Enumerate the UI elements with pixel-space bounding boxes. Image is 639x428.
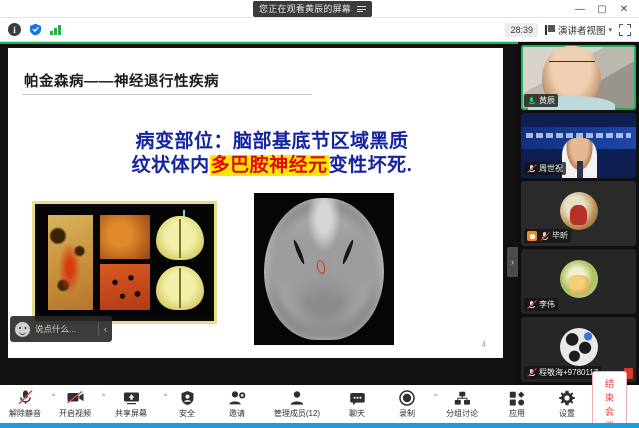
participant-name-badge: 周世祝 — [524, 162, 566, 175]
chevron-left-icon[interactable]: ‹ — [104, 324, 107, 334]
apps-icon — [509, 390, 525, 406]
maximize-button[interactable]: ▢ — [591, 0, 613, 18]
window-titlebar: 您正在观看黄辰的屏幕 — ▢ ✕ — [0, 0, 639, 18]
participant-strip[interactable]: 黄辰 周世祝 毕昕 李伟 — [518, 42, 639, 385]
brain-mri-image — [254, 193, 394, 345]
annotation-chat-widget[interactable]: 说点什么... ‹ — [10, 316, 112, 342]
chat-bubble-icon — [349, 390, 366, 406]
view-mode-label: 演讲者视图 — [558, 23, 606, 37]
fullscreen-icon[interactable] — [619, 24, 631, 36]
microphone-muted-icon — [540, 232, 549, 241]
start-video-label: 开启视频 — [59, 408, 91, 419]
start-video-button[interactable]: 开启视频 ^ — [50, 385, 100, 423]
speaker-view-icon — [545, 25, 555, 35]
apps-label: 应用 — [509, 408, 525, 419]
slide-page-number: 4 — [482, 340, 486, 349]
histology-panel-2 — [100, 215, 150, 259]
glasses-decor — [549, 61, 595, 66]
presentation-slide: 帕金森病——神经退行性疾病 病变部位：脑部基底节区域黑质 纹状体内多巴胺神经元变… — [8, 48, 503, 358]
subtoolbar-left-icons: i — [8, 23, 61, 36]
slide-title: 帕金森病——神经退行性疾病 — [24, 70, 219, 91]
invite-label: 邀请 — [229, 408, 245, 419]
info-icon[interactable]: i — [8, 23, 21, 36]
participant-name: 周世祝 — [539, 165, 563, 173]
brain-specimen-2 — [156, 266, 204, 310]
participants-icon — [289, 390, 305, 406]
apps-button[interactable]: 应用 — [492, 385, 542, 423]
shared-screen-stage: 帕金森病——神经退行性疾病 病变部位：脑部基底节区域黑质 纹状体内多巴胺神经元变… — [0, 42, 518, 385]
slide-heading: 病变部位：脑部基底节区域黑质 纹状体内多巴胺神经元变性坏死. — [92, 130, 452, 179]
meeting-bottom-toolbar: 解除静音 ^ 开启视频 ^ 共享屏幕 ^ 安全 — [0, 385, 639, 423]
signal-bars-icon[interactable] — [50, 24, 61, 35]
security-label: 安全 — [179, 408, 195, 419]
invite-person-icon — [228, 390, 246, 406]
taskbar-strip — [0, 423, 639, 428]
settings-button[interactable]: 设置 — [542, 385, 592, 423]
share-screen-icon — [122, 390, 141, 406]
participant-tile[interactable]: 毕昕 — [521, 181, 636, 246]
security-shield-icon — [180, 390, 195, 406]
avatar — [560, 328, 598, 366]
panel-collapse-handle[interactable]: › — [507, 247, 518, 277]
share-screen-label: 共享屏幕 — [115, 408, 147, 419]
gear-icon — [559, 390, 575, 406]
subtoolbar-right-controls: 28:39 演讲者视图 ▾ — [505, 23, 631, 37]
participant-name: 程敬海+9780117 — [539, 369, 598, 377]
record-icon — [399, 390, 415, 406]
minimize-button[interactable]: — — [569, 0, 591, 18]
participant-tile[interactable]: 李伟 — [521, 249, 636, 314]
tie-decor — [577, 161, 583, 178]
unmute-button[interactable]: 解除静音 ^ — [0, 385, 50, 423]
host-badge-icon — [527, 231, 537, 241]
record-button[interactable]: 录制 ^ — [382, 385, 432, 423]
participant-name-badge: 黄辰 — [524, 94, 558, 107]
slide-heading-line2-pre: 纹状体内 — [132, 155, 210, 176]
participant-tile[interactable]: 黄辰 — [521, 45, 636, 110]
participant-name-badge: 程敬海+9780117 — [524, 366, 601, 379]
meeting-timer: 28:39 — [505, 23, 538, 37]
view-mode-selector[interactable]: 演讲者视图 ▾ — [545, 23, 612, 37]
chevron-down-icon[interactable]: ▾ — [608, 26, 612, 34]
sharing-indicator-bar — [0, 42, 518, 44]
microphone-muted-icon — [17, 390, 34, 406]
chat-label: 聊天 — [349, 408, 365, 419]
shield-icon[interactable] — [29, 23, 42, 36]
title-divider — [22, 94, 312, 95]
screenshare-notice-pill[interactable]: 您正在观看黄辰的屏幕 — [253, 1, 372, 17]
breakout-rooms-icon — [454, 390, 471, 406]
microphone-muted-icon — [527, 368, 536, 377]
brain-specimen-1 — [156, 216, 204, 260]
participant-name: 黄辰 — [539, 97, 555, 105]
record-label: 录制 — [399, 408, 415, 419]
slide-heading-line2-post: 变性坏死. — [329, 155, 413, 176]
histology-panel-1 — [48, 215, 93, 310]
meeting-subtoolbar: i 28:39 演讲者视图 ▾ — [0, 18, 639, 42]
microphone-icon — [527, 96, 536, 105]
microphone-muted-icon — [527, 300, 536, 309]
window-controls: — ▢ ✕ — [569, 0, 635, 18]
breakout-rooms-label: 分组讨论 — [446, 408, 478, 419]
participant-name-badge: 毕昕 — [524, 229, 571, 243]
smiley-icon[interactable] — [15, 322, 30, 337]
avatar — [560, 192, 598, 230]
histology-images — [32, 201, 217, 324]
hamburger-icon[interactable] — [357, 6, 366, 12]
screenshare-notice-text: 您正在观看黄辰的屏幕 — [259, 5, 351, 14]
zoom-meeting-window: 您正在观看黄辰的屏幕 — ▢ ✕ i 28:39 演讲者视图 ▾ — [0, 0, 639, 428]
histology-panel-3 — [100, 264, 150, 311]
close-button[interactable]: ✕ — [613, 0, 635, 18]
slide-heading-highlight: 多巴胺神经元 — [210, 155, 329, 176]
manage-participants-button[interactable]: 管理成员(12) — [262, 385, 332, 423]
invite-button[interactable]: 邀请 — [212, 385, 262, 423]
participant-name: 毕昕 — [552, 232, 568, 240]
settings-label: 设置 — [559, 408, 575, 419]
chat-input-placeholder[interactable]: 说点什么... — [35, 323, 93, 335]
participant-name-badge: 李伟 — [524, 298, 558, 311]
share-screen-button[interactable]: 共享屏幕 ^ — [100, 385, 162, 423]
participant-name: 李伟 — [539, 301, 555, 309]
chat-button[interactable]: 聊天 — [332, 385, 382, 423]
participant-tile[interactable]: 周世祝 — [521, 113, 636, 178]
end-meeting-button[interactable]: 结束会议 — [592, 371, 627, 428]
unmute-label: 解除静音 — [9, 408, 41, 419]
chat-divider — [98, 322, 99, 336]
manage-participants-label: 管理成员(12) — [274, 408, 320, 419]
microphone-muted-icon — [527, 164, 536, 173]
security-button[interactable]: 安全 — [162, 385, 212, 423]
slide-heading-line1: 病变部位：脑部基底节区域黑质 — [135, 131, 408, 152]
breakout-rooms-button[interactable]: 分组讨论 — [432, 385, 492, 423]
camera-muted-icon — [66, 390, 85, 406]
avatar — [560, 260, 598, 298]
